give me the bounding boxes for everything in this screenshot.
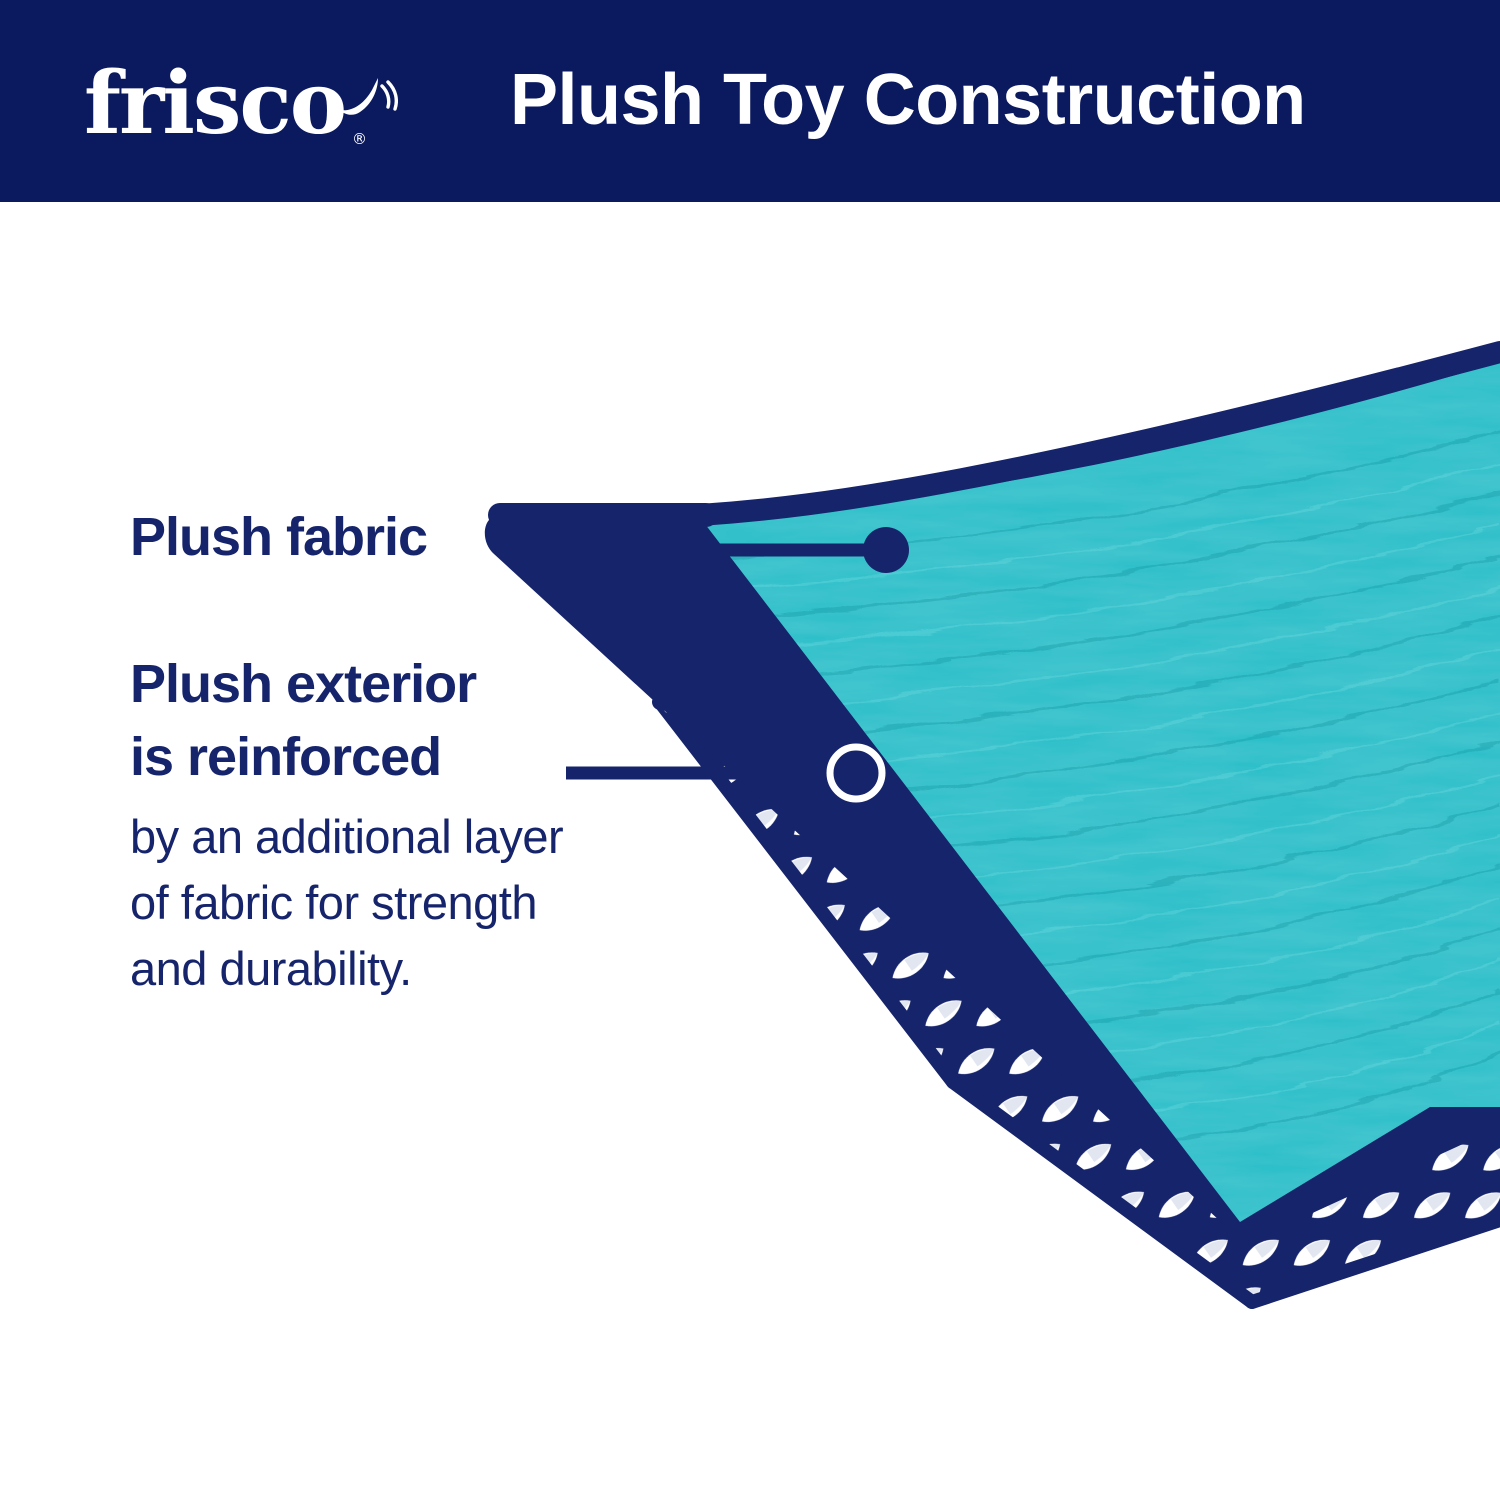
callout-plush-fabric: Plush fabric (130, 505, 560, 569)
callout-plush-fabric-heading: Plush fabric (130, 505, 560, 569)
header-bar: frisco ® Plush Toy Construction (0, 0, 1500, 202)
brand-wordmark: frisco (84, 56, 345, 152)
callout-plush-exterior-reinforced: Plush exterior is reinforced by an addit… (130, 648, 720, 1002)
page-title: Plush Toy Construction (510, 52, 1410, 148)
callout-reinforced-body: by an additional layer of fabric for str… (130, 804, 720, 1002)
callout-reinforced-body-line-3: and durability. (130, 936, 720, 1002)
callout-reinforced-heading: Plush exterior is reinforced (130, 648, 720, 794)
infographic-page: frisco ® Plush Toy Construction (0, 0, 1500, 1500)
registered-trademark-icon: ® (352, 130, 367, 148)
leader-dot-filled (863, 527, 909, 573)
callout-reinforced-heading-line-2: is reinforced (130, 721, 720, 794)
brand-swoosh-icon (338, 76, 398, 126)
callout-reinforced-heading-line-1: Plush exterior (130, 648, 720, 721)
callout-reinforced-body-line-1: by an additional layer (130, 804, 720, 870)
leader-dot-ring-core (835, 752, 877, 794)
frisco-logo: frisco ® (84, 56, 394, 156)
callout-reinforced-body-line-2: of fabric for strength (130, 870, 720, 936)
